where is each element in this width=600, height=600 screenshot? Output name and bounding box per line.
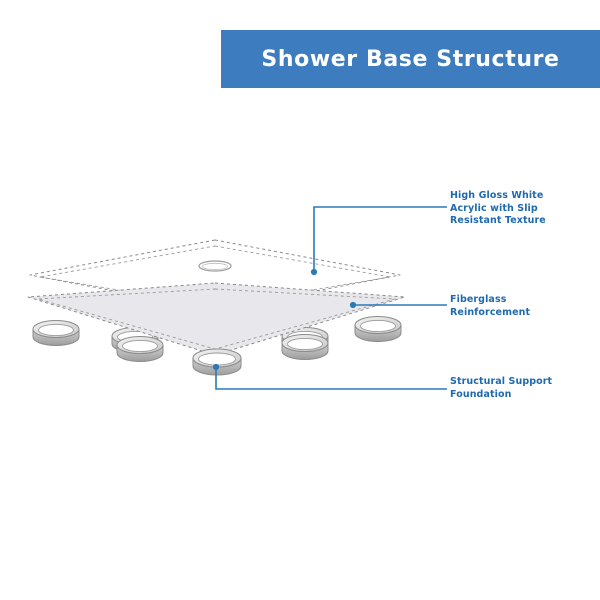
support-foot-ring-labeled xyxy=(193,349,241,375)
leader-line-acrylic xyxy=(311,207,447,275)
support-foot-ring xyxy=(355,317,401,342)
leader-dot-acrylic xyxy=(311,269,317,275)
leader-dot-fiberglass xyxy=(350,302,356,308)
diagram-page: Shower Base Structure xyxy=(0,0,600,600)
support-foot-ring xyxy=(33,321,79,346)
callout-label-foundation: Structural Support Foundation xyxy=(450,376,596,401)
callout-label-acrylic: High Gloss White Acrylic with Slip Resis… xyxy=(450,190,596,228)
support-foot-ring xyxy=(282,335,328,360)
callout-label-fiberglass: Fiberglass Reinforcement xyxy=(450,294,596,319)
leader-line-foundation xyxy=(213,364,447,389)
drain-opening xyxy=(199,261,231,271)
leader-dot-foundation xyxy=(213,364,219,370)
fiberglass-layer xyxy=(28,283,405,355)
support-foot-ring xyxy=(117,337,163,362)
